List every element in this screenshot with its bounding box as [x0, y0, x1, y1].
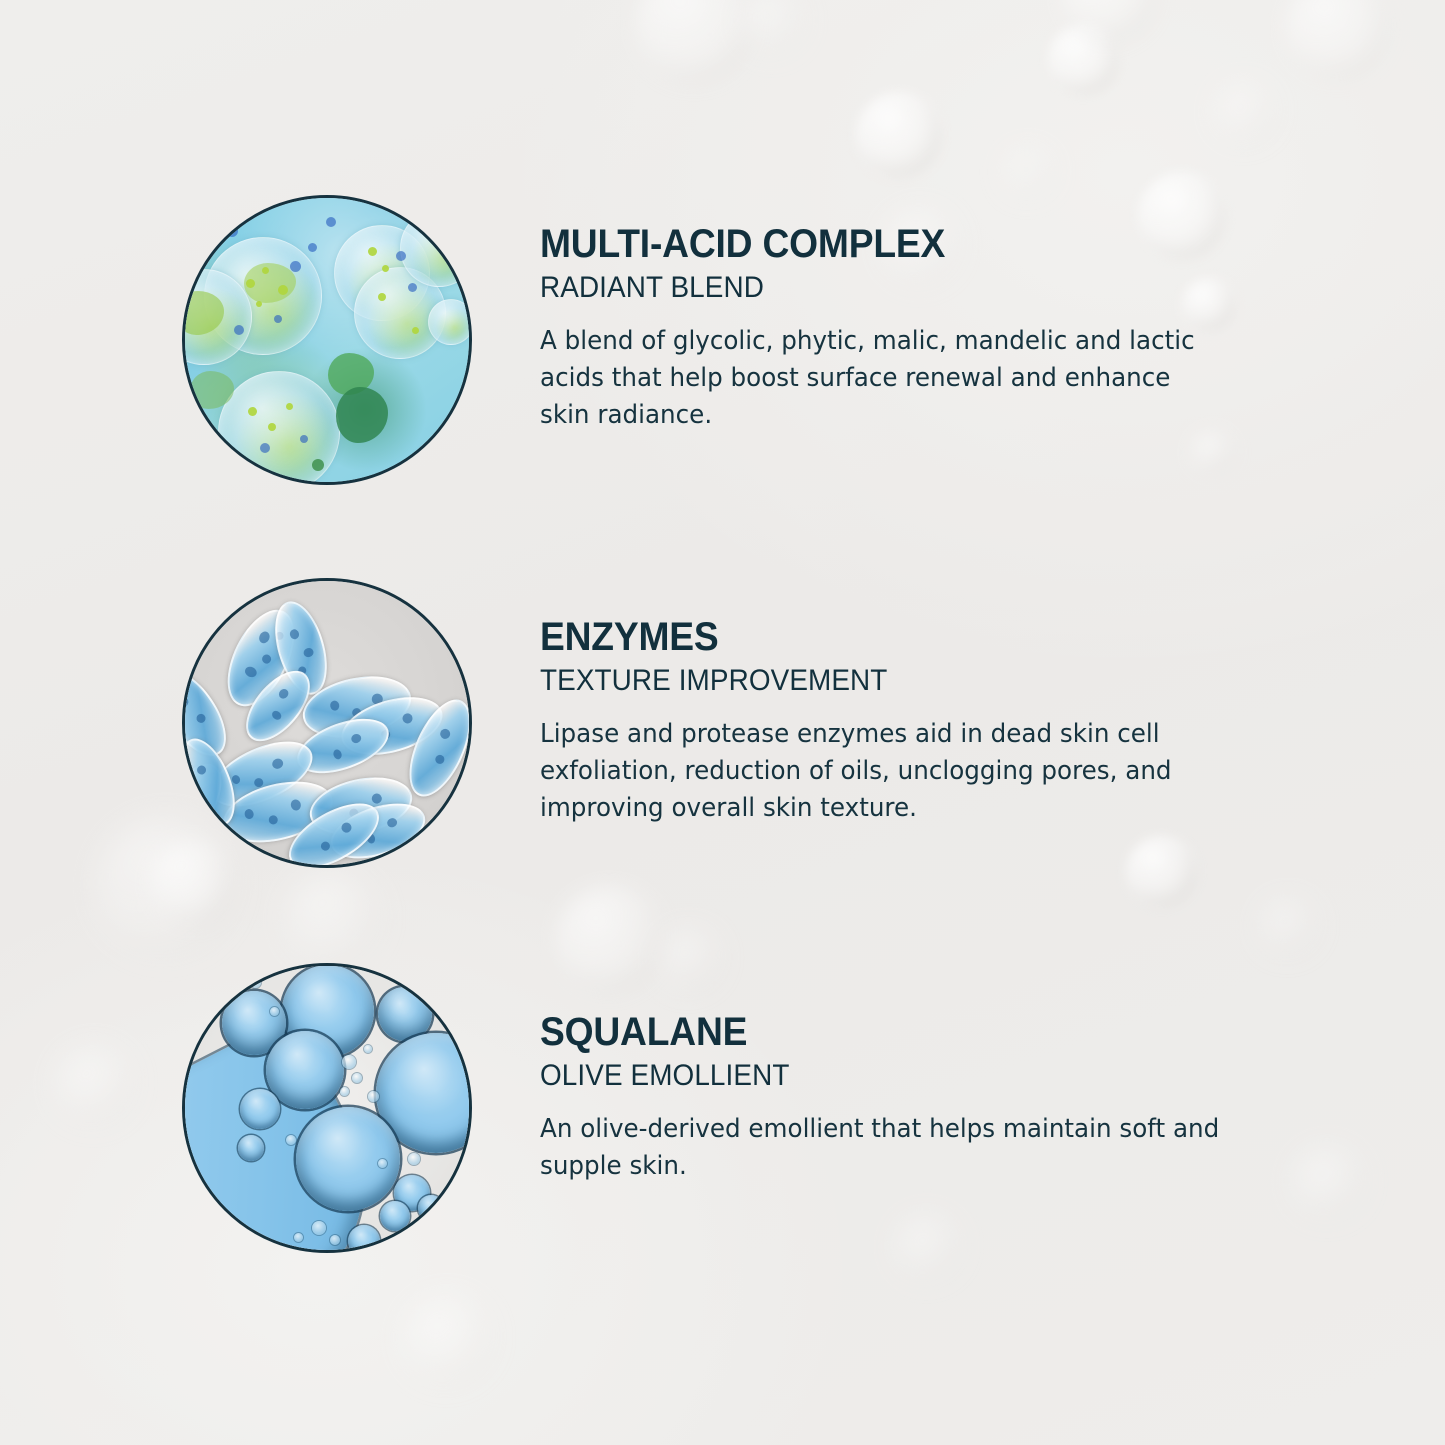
algae-cells-icon — [182, 195, 472, 485]
ingredient-heading: SQUALANE — [540, 1011, 1210, 1053]
image-circle-frame — [182, 195, 472, 485]
ingredient-heading: MULTI-ACID COMPLEX — [540, 223, 1210, 265]
ingredient-description: Lipase and protease enzymes aid in dead … — [540, 716, 1220, 827]
ingredient-heading: ENZYMES — [540, 616, 1210, 658]
ingredient-subheading: RADIANT BLEND — [540, 271, 1210, 305]
ingredient-description: An olive-derived emollient that helps ma… — [540, 1111, 1220, 1185]
ingredient-section-multi-acid-complex: MULTI-ACID COMPLEX RADIANT BLEND A blend… — [0, 195, 1445, 485]
ingredient-section-enzymes: ENZYMES TEXTURE IMPROVEMENT Lipase and p… — [0, 578, 1445, 868]
ingredient-image-squalane — [182, 963, 472, 1253]
ingredient-image-multi-acid-complex — [182, 195, 472, 485]
image-circle-frame — [182, 963, 472, 1253]
enzyme-microorganisms-icon — [182, 578, 472, 868]
oil-droplets-icon — [182, 963, 472, 1253]
ingredient-list: MULTI-ACID COMPLEX RADIANT BLEND A blend… — [0, 0, 1445, 1445]
ingredient-image-enzymes — [182, 578, 472, 868]
infographic-canvas: MULTI-ACID COMPLEX RADIANT BLEND A blend… — [0, 0, 1445, 1445]
image-circle-frame — [182, 578, 472, 868]
ingredient-subheading: TEXTURE IMPROVEMENT — [540, 664, 1210, 698]
ingredient-section-squalane: SQUALANE OLIVE EMOLLIENT An olive-derive… — [0, 963, 1445, 1253]
ingredient-description: A blend of glycolic, phytic, malic, mand… — [540, 323, 1220, 434]
ingredient-subheading: OLIVE EMOLLIENT — [540, 1059, 1210, 1093]
ingredient-text-enzymes: ENZYMES TEXTURE IMPROVEMENT Lipase and p… — [540, 578, 1260, 827]
chloroplast-blob — [336, 387, 388, 443]
ingredient-text-squalane: SQUALANE OLIVE EMOLLIENT An olive-derive… — [540, 963, 1260, 1185]
ingredient-text-multi-acid-complex: MULTI-ACID COMPLEX RADIANT BLEND A blend… — [540, 195, 1260, 434]
